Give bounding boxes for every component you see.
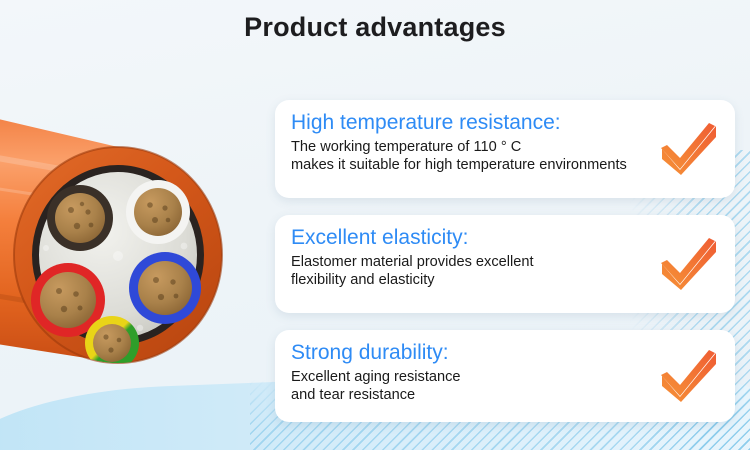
page-title: Product advantages — [0, 12, 750, 43]
advantage-card-heading: Excellent elasticity: — [291, 226, 719, 250]
advantage-card-body-line: makes it suitable for high temperature e… — [291, 156, 663, 175]
conductor-black — [47, 185, 113, 251]
advantage-card-heading: High temperature resistance: — [291, 111, 719, 135]
product-advantages-banner: e Co.,Ltd. — [0, 0, 750, 450]
advantage-card-heading: Strong durability: — [291, 341, 719, 365]
advantage-card-high-temperature-resistance: High temperature resistance: The working… — [275, 100, 735, 198]
advantage-card-body-line: flexibility and elasticity — [291, 271, 663, 290]
orange-check-icon — [657, 236, 721, 292]
conductor-blue — [129, 252, 201, 324]
conductor-yellow-green — [85, 316, 139, 370]
advantage-card-body-line: The working temperature of 110 ° C — [291, 138, 663, 157]
advantage-card-excellent-elasticity: Excellent elasticity: Elastomer material… — [275, 215, 735, 313]
conductor-white — [126, 180, 190, 244]
advantage-card-body: The working temperature of 110 ° C makes… — [291, 138, 663, 175]
orange-check-icon — [657, 348, 721, 404]
advantage-card-body: Excellent aging resistance and tear resi… — [291, 368, 663, 405]
advantage-card-body-line: Elastomer material provides excellent — [291, 253, 663, 272]
cable-product-image: e Co.,Ltd. — [0, 60, 260, 390]
advantage-card-body-line: and tear resistance — [291, 386, 663, 405]
advantage-card-strong-durability: Strong durability: Excellent aging resis… — [275, 330, 735, 422]
advantage-card-body-line: Excellent aging resistance — [291, 368, 663, 387]
orange-check-icon — [657, 121, 721, 177]
advantage-card-body: Elastomer material provides excellent fl… — [291, 253, 663, 290]
